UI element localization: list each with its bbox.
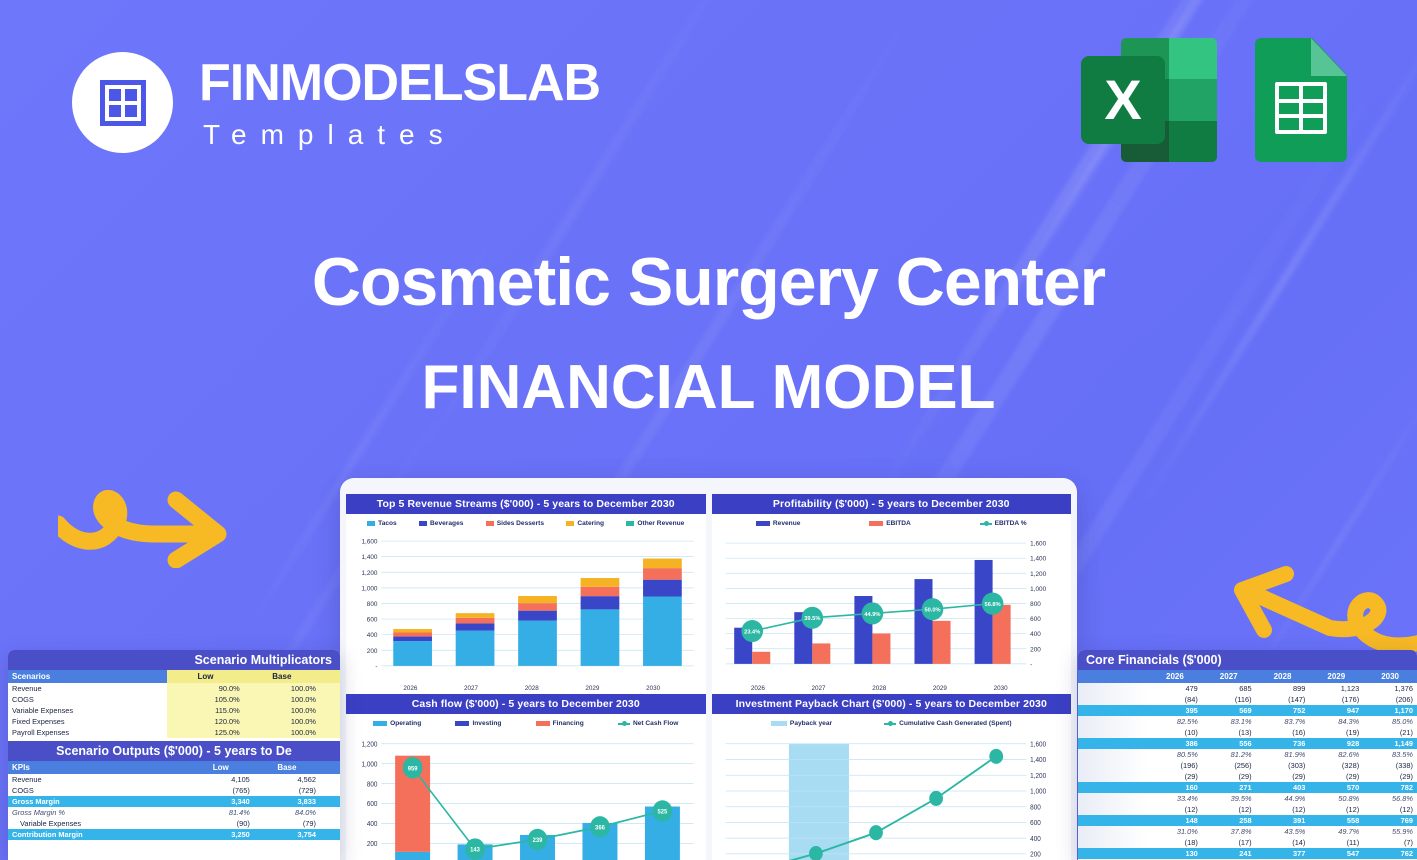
cell-value: (147) [1256,694,1310,705]
svg-text:-: - [1030,661,1032,668]
cell-value: 44.9% [1256,793,1310,804]
cell-value: (84) [1148,694,1202,705]
cell-value: 1,170 [1363,705,1417,716]
cell-base: 100.0% [244,683,320,694]
legend-item: Revenue [756,520,801,527]
row-label [1078,782,1148,793]
svg-text:600: 600 [367,617,378,624]
cell-value: (196) [1148,760,1202,771]
svg-text:44.9%: 44.9% [864,612,880,618]
svg-text:1,400: 1,400 [1030,556,1046,563]
cell-value: (176) [1309,694,1363,705]
table-row: (196)(256)(303)(328)(338) [1078,760,1417,771]
svg-text:959: 959 [408,765,418,772]
cell-value: (7) [1363,837,1417,848]
svg-text:50.0%: 50.0% [924,608,940,614]
cell-value: 84.3% [1309,716,1363,727]
row-label: COGS [8,785,188,796]
col-2027: 2027 [1202,670,1256,683]
row-label: Variable Expenses [8,705,167,716]
cell-value: (338) [1363,760,1417,771]
table-row: COGS(765)(729) [8,785,340,796]
svg-text:400: 400 [367,632,378,639]
svg-text:1,600: 1,600 [362,539,378,546]
dashboard-card: Top 5 Revenue Streams ($'000) - 5 years … [340,478,1077,860]
cell-value: (11) [1309,837,1363,848]
row-label: Revenue [8,683,167,694]
cell-base: 100.0% [244,727,320,738]
table-row: Fixed Expenses120.0%100.0% [8,716,340,727]
legend-item: Payback year [771,720,832,727]
core-financials-table[interactable]: 2026 2027 2028 2029 2030 4796858991,1231… [1078,670,1417,859]
table-row: Contribution Margin3,2503,754 [8,829,340,840]
table-row: 160271403570782 [1078,782,1417,793]
row-label [1078,694,1148,705]
table-row: (29)(29)(29)(29)(29) [1078,771,1417,782]
table-row: Gross Margin3,3403,833 [8,796,340,807]
legend-item: Financing [536,720,584,727]
svg-text:1,200: 1,200 [362,741,378,748]
scenario-outputs-table[interactable]: KPIs Low Base Revenue4,1054,562COGS(765)… [8,761,340,840]
svg-text:200: 200 [1030,646,1041,653]
cell-value: (14) [1256,837,1310,848]
cell-value: (21) [1363,727,1417,738]
chart-panel-revenue-streams[interactable]: Top 5 Revenue Streams ($'000) - 5 years … [346,494,706,694]
svg-text:1,400: 1,400 [1030,757,1046,764]
col-low: Low [188,761,254,774]
svg-text:800: 800 [367,781,378,788]
chart-plot-area: 1,6001,4001,2001,000800600400200-23.4%39… [712,531,1072,684]
table-row: (84)(116)(147)(176)(206) [1078,694,1417,705]
headline-subtitle: FINANCIAL MODEL [0,349,1417,427]
chart-legend: Payback year Cumulative Cash Generated (… [712,714,1072,731]
cell-value: 685 [1202,683,1256,694]
chart-panel-investment-payback[interactable]: Investment Payback Chart ($'000) - 5 yea… [712,694,1072,860]
legend-item: Sides Desserts [486,520,544,527]
table-row: 3955697529471,170 [1078,705,1417,716]
cell-value: 56.8% [1363,793,1417,804]
cell-value: 43.5% [1256,826,1310,837]
table-row: Gross Margin %81.4%84.0% [8,807,340,818]
chart-panel-profitability[interactable]: Profitability ($'000) - 5 years to Decem… [712,494,1072,694]
col-scenarios: Scenarios [8,670,167,683]
cell-low: (765) [188,785,254,796]
col-base: Base [254,761,320,774]
chart-plot-area: 1,6001,4001,2001,000800600400200-(200) [712,731,1072,860]
cell-value: 395 [1148,705,1202,716]
cell-value: 82.6% [1309,749,1363,760]
svg-text:600: 600 [1030,616,1041,623]
core-financials-panel[interactable]: Core Financials ($'000) 2026 2027 2028 2… [1078,650,1417,860]
svg-text:600: 600 [367,801,378,808]
row-label [1078,683,1148,694]
col-2028: 2028 [1256,670,1310,683]
row-label [1078,815,1148,826]
cell-value: (19) [1309,727,1363,738]
table-row: Revenue90.0%100.0% [8,683,340,694]
col-overflow [320,761,340,774]
cell-value: (12) [1202,804,1256,815]
svg-text:1,000: 1,000 [1030,788,1046,795]
table-row: 82.5%83.1%83.7%84.3%85.0% [1078,716,1417,727]
cell-value: 85.0% [1363,716,1417,727]
svg-text:239: 239 [533,837,543,844]
chart-title: Cash flow ($'000) - 5 years to December … [346,694,706,714]
row-label [1078,738,1148,749]
table-row: 3865567369281,149 [1078,738,1417,749]
cell-value: 391 [1256,815,1310,826]
svg-text:400: 400 [1030,631,1041,638]
scenario-outputs-title: Scenario Outputs ($'000) - 5 years to De [8,741,340,761]
row-label [1078,804,1148,815]
svg-text:600: 600 [1030,820,1041,827]
table-row: Revenue4,1054,562 [8,774,340,785]
cell-value: 83.5% [1363,749,1417,760]
scenario-panel[interactable]: Scenario Multiplicators Scenarios Low Ba… [8,650,340,860]
chart-legend: Tacos Beverages Sides Desserts Catering … [346,514,706,531]
cell-base: 4,562 [254,774,320,785]
cell-value: (116) [1202,694,1256,705]
svg-text:1,400: 1,400 [362,554,378,561]
col-row-labels [1078,670,1148,683]
table-row: Variable Expenses(90)(79) [8,818,340,829]
legend-item: Operating [373,720,421,727]
cell-value: (17) [1202,837,1256,848]
table-row: 31.0%37.8%43.5%49.7%55.9% [1078,826,1417,837]
col-base: Base [244,670,320,683]
row-label: Fixed Expenses [8,716,167,727]
table-row: (12)(12)(12)(12)(12) [1078,804,1417,815]
svg-text:400: 400 [1030,836,1041,843]
cell-low: 105.0% [167,694,243,705]
svg-text:800: 800 [367,601,378,608]
cell-value: 39.5% [1202,793,1256,804]
cell-value: 80.5% [1148,749,1202,760]
svg-text:400: 400 [367,821,378,828]
svg-text:1,000: 1,000 [362,585,378,592]
row-label [1078,727,1148,738]
cell-value: 899 [1256,683,1310,694]
chart-panel-cash-flow[interactable]: Cash flow ($'000) - 5 years to December … [346,694,706,860]
cell-value: 386 [1148,738,1202,749]
table-row: 33.4%39.5%44.9%50.8%56.8% [1078,793,1417,804]
svg-text:1,000: 1,000 [362,761,378,768]
cell-value: 1,123 [1309,683,1363,694]
row-label [1078,716,1148,727]
row-label [1078,771,1148,782]
cell-low: 120.0% [167,716,243,727]
cell-value: (12) [1148,804,1202,815]
svg-text:1,000: 1,000 [1030,586,1046,593]
col-low: Low [167,670,243,683]
table-row: Payroll Expenses125.0%100.0% [8,727,340,738]
cell-value: 479 [1148,683,1202,694]
row-label: Variable Expenses [8,818,188,829]
chart-legend: Revenue EBITDA EBITDA % [712,514,1072,531]
excel-letter: X [1081,56,1165,144]
cell-value: 37.8% [1202,826,1256,837]
chart-plot-area: 1,2001,000800600400200-(200)959143239366… [346,731,706,860]
svg-text:525: 525 [658,808,668,815]
cell-value: 752 [1256,705,1310,716]
col-kpis: KPIs [8,761,188,774]
legend-item: Net Cash Flow [618,720,678,727]
cell-value: (29) [1148,771,1202,782]
cell-value: 570 [1309,782,1363,793]
brand-tagline: Templates [199,121,600,149]
legend-item: Beverages [419,520,463,527]
row-label [1078,760,1148,771]
arrow-pointing-right-icon [58,438,258,568]
cell-value: (10) [1148,727,1202,738]
table-row: (10)(13)(16)(19)(21) [1078,727,1417,738]
x-axis-labels: 20262027 20282029 2030 [712,684,1072,694]
legend-item: EBITDA % [980,520,1027,527]
cell-value: (12) [1363,804,1417,815]
cell-value: 50.8% [1309,793,1363,804]
row-label: Revenue [8,774,188,785]
legend-item: Investing [455,720,501,727]
cell-value: (206) [1363,694,1417,705]
table-header-row: Scenarios Low Base [8,670,340,683]
cell-value: 377 [1256,848,1310,859]
legend-item: Other Revenue [626,520,684,527]
table-header-row: 2026 2027 2028 2029 2030 [1078,670,1417,683]
col-overflow [320,670,340,683]
cell-low: (90) [188,818,254,829]
cell-base: (729) [254,785,320,796]
cell-value: 82.5% [1148,716,1202,727]
row-label [1078,793,1148,804]
cell-value: 81.9% [1256,749,1310,760]
cell-value: 33.4% [1148,793,1202,804]
svg-text:366: 366 [595,824,605,831]
svg-text:1,200: 1,200 [1030,773,1046,780]
cell-value: 271 [1202,782,1256,793]
brand-logo: FINMODELSLAB Templates [72,52,600,153]
cell-low: 125.0% [167,727,243,738]
row-label: COGS [8,694,167,705]
cell-value: 947 [1309,705,1363,716]
cell-base: 84.0% [254,807,320,818]
svg-text:200: 200 [1030,851,1041,858]
svg-text:800: 800 [1030,601,1041,608]
svg-text:800: 800 [1030,804,1041,811]
cell-value: (12) [1309,804,1363,815]
cell-low: 3,250 [188,829,254,840]
google-sheets-icon [1255,38,1347,162]
cell-value: (29) [1256,771,1310,782]
svg-text:1,600: 1,600 [1030,541,1046,548]
core-financials-title: Core Financials ($'000) [1078,650,1417,670]
cell-value: 1,149 [1363,738,1417,749]
chart-title: Profitability ($'000) - 5 years to Decem… [712,494,1072,514]
row-label [1078,749,1148,760]
svg-text:143: 143 [470,846,480,853]
row-label: Contribution Margin [8,829,188,840]
row-label [1078,705,1148,716]
cell-value: (29) [1202,771,1256,782]
cell-base: 100.0% [244,716,320,727]
row-label [1078,848,1148,859]
chart-title: Investment Payback Chart ($'000) - 5 yea… [712,694,1072,714]
table-row: 130241377547762 [1078,848,1417,859]
cell-base: (79) [254,818,320,829]
svg-text:23.4%: 23.4% [744,629,760,635]
cell-value: 31.0% [1148,826,1202,837]
cell-value: 928 [1309,738,1363,749]
legend-item: Tacos [367,520,397,527]
table-header-row: KPIs Low Base [8,761,340,774]
scenario-multiplicators-table[interactable]: Scenarios Low Base Revenue90.0%100.0%COG… [8,670,340,738]
table-row: (18)(17)(14)(11)(7) [1078,837,1417,848]
cell-value: 769 [1363,815,1417,826]
svg-text:200: 200 [367,841,378,848]
cell-value: 782 [1363,782,1417,793]
cell-low: 90.0% [167,683,243,694]
row-label [1078,837,1148,848]
svg-text:1,200: 1,200 [1030,571,1046,578]
row-label: Gross Margin [8,796,188,807]
cell-value: (29) [1363,771,1417,782]
cell-value: (303) [1256,760,1310,771]
col-2029: 2029 [1309,670,1363,683]
cell-low: 3,340 [188,796,254,807]
cell-value: 736 [1256,738,1310,749]
table-row: Variable Expenses115.0%100.0% [8,705,340,716]
cell-value: (13) [1202,727,1256,738]
table-row: 80.5%81.2%81.9%82.6%83.5% [1078,749,1417,760]
cell-value: (328) [1309,760,1363,771]
cell-value: 403 [1256,782,1310,793]
grid-logo-icon [72,52,173,153]
cell-value: (29) [1309,771,1363,782]
legend-item: Cumulative Cash Generated (Spent) [884,720,1011,727]
cell-value: 83.7% [1256,716,1310,727]
cell-value: (18) [1148,837,1202,848]
cell-value: 258 [1202,815,1256,826]
cell-base: 3,754 [254,829,320,840]
cell-low: 4,105 [188,774,254,785]
cell-value: 83.1% [1202,716,1256,727]
row-label [1078,826,1148,837]
cell-value: 547 [1309,848,1363,859]
svg-text:56.8%: 56.8% [984,602,1000,608]
chart-legend: Operating Investing Financing Net Cash F… [346,714,706,731]
cell-value: 558 [1309,815,1363,826]
cell-base: 3,833 [254,796,320,807]
chart-plot-area: 1,6001,4001,2001,000800600400200- [346,531,706,684]
cell-value: (256) [1202,760,1256,771]
svg-text:200: 200 [367,648,378,655]
chart-title: Top 5 Revenue Streams ($'000) - 5 years … [346,494,706,514]
table-row: 4796858991,1231,376 [1078,683,1417,694]
row-label: Gross Margin % [8,807,188,818]
x-axis-labels: 20262027 20282029 2030 [346,684,706,694]
svg-text:-: - [375,663,377,670]
page-title: Cosmetic Surgery Center FINANCIAL MODEL [0,240,1417,427]
svg-text:39.5%: 39.5% [804,616,820,622]
col-2030: 2030 [1363,670,1417,683]
cell-value: 49.7% [1309,826,1363,837]
legend-item: EBITDA [869,520,911,527]
table-row: COGS105.0%100.0% [8,694,340,705]
table-row: 148258391558769 [1078,815,1417,826]
cell-value: 762 [1363,848,1417,859]
cell-base: 100.0% [244,694,320,705]
row-label: Payroll Expenses [8,727,167,738]
cell-value: 569 [1202,705,1256,716]
cell-value: (12) [1256,804,1310,815]
cell-value: 556 [1202,738,1256,749]
app-icons: X [1081,38,1347,162]
col-2026: 2026 [1148,670,1202,683]
cell-low: 81.4% [188,807,254,818]
cell-value: 130 [1148,848,1202,859]
cell-value: 1,376 [1363,683,1417,694]
excel-icon: X [1081,38,1217,162]
cell-value: 55.9% [1363,826,1417,837]
cell-value: 148 [1148,815,1202,826]
cell-base: 100.0% [244,705,320,716]
cell-value: (16) [1256,727,1310,738]
headline-title: Cosmetic Surgery Center [0,240,1417,325]
cell-value: 160 [1148,782,1202,793]
cell-value: 241 [1202,848,1256,859]
cell-low: 115.0% [167,705,243,716]
legend-item: Catering [566,520,604,527]
cell-value: 81.2% [1202,749,1256,760]
svg-text:1,600: 1,600 [1030,741,1046,748]
brand-name: FINMODELSLAB [199,57,600,109]
svg-text:1,200: 1,200 [362,570,378,577]
scenario-multiplicators-title: Scenario Multiplicators [8,650,340,670]
